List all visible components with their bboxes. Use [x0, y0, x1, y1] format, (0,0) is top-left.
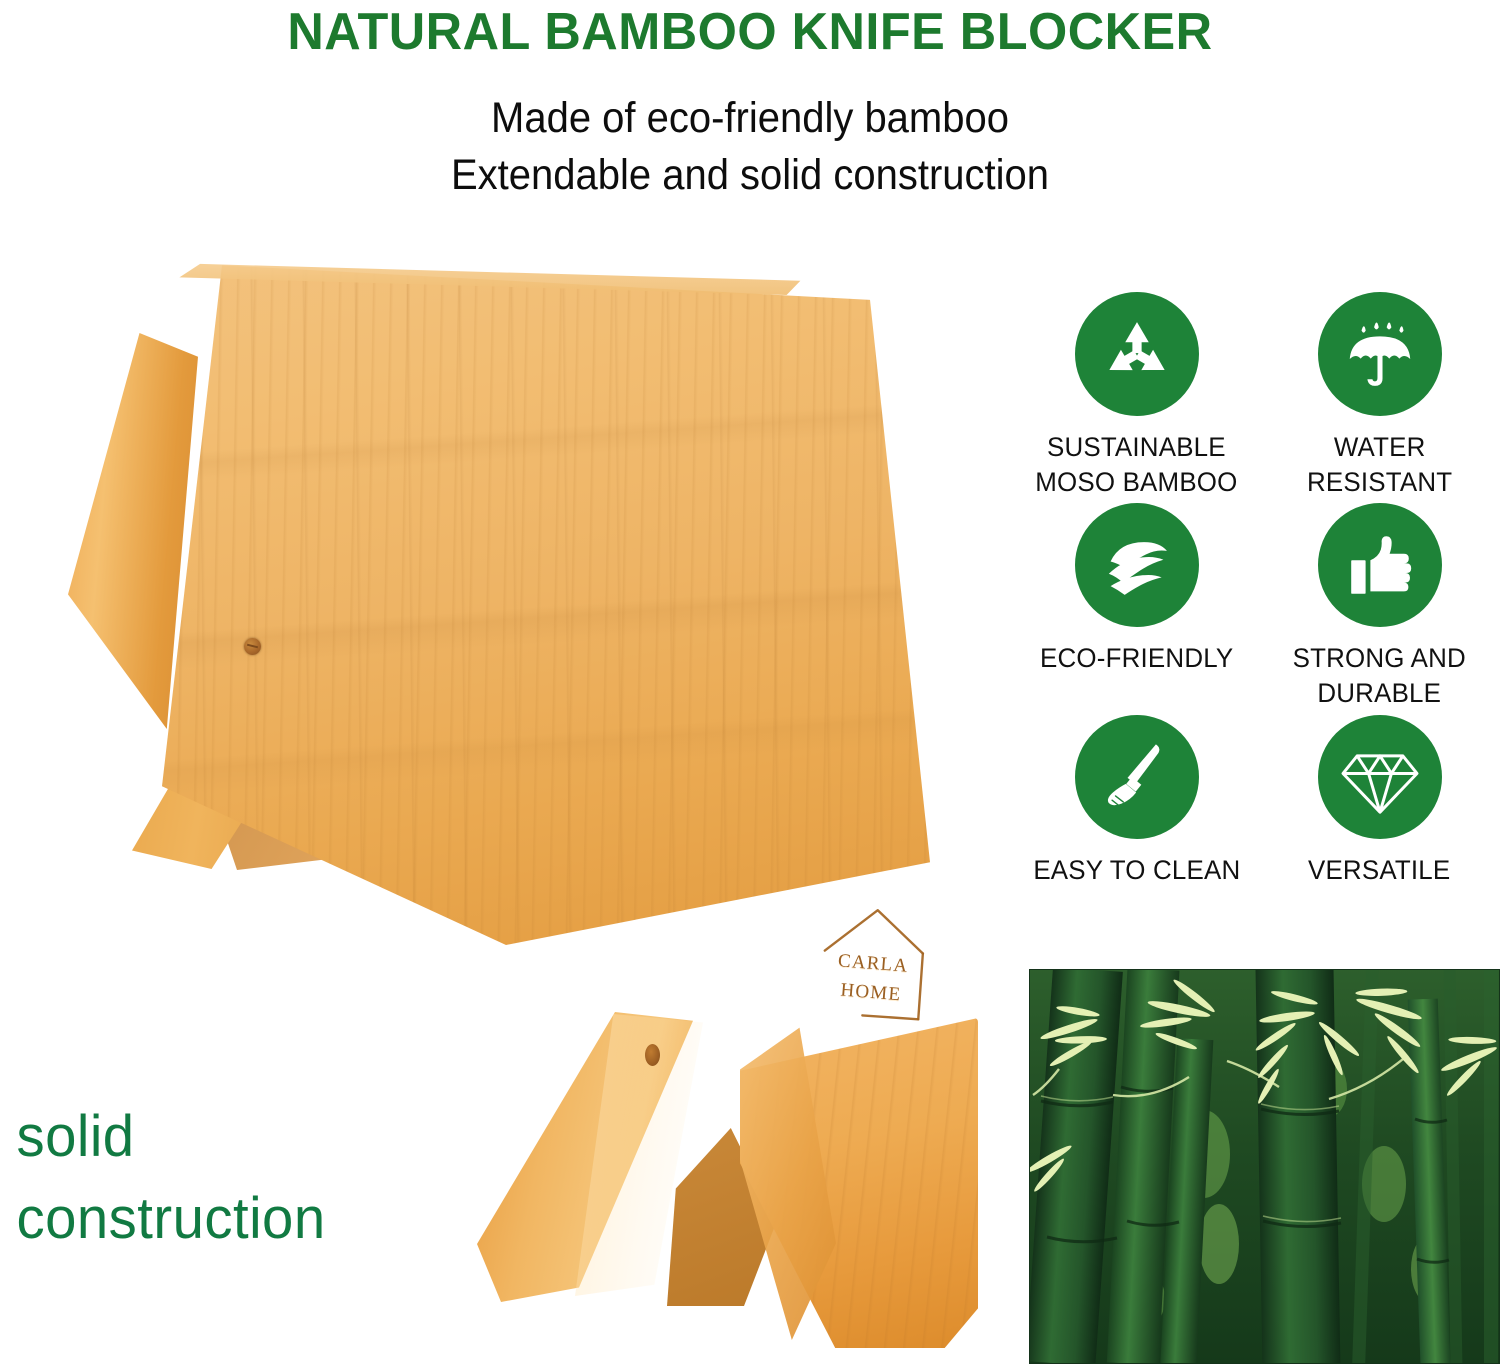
header-banner: NATURAL BAMBOO KNIFE BLOCKER Made of eco… — [0, 0, 1500, 210]
badge-sustainable-moso-bamboo: SUSTAINABLE MOSO BAMBOO — [1022, 292, 1251, 499]
subtitle-line-1: Made of eco-friendly bamboo — [53, 58, 1448, 147]
badge-label: VERSATILE — [1308, 853, 1450, 888]
broom-icon — [1075, 715, 1199, 839]
feature-badge-grid: SUSTAINABLE MOSO BAMBOO WATER RESISTANT — [1022, 292, 1494, 922]
callout-line-2: construction — [16, 1178, 433, 1260]
badge-label: ECO-FRIENDLY — [1040, 641, 1233, 676]
diamond-icon — [1318, 715, 1442, 839]
kickstand-detail-photo — [455, 1000, 975, 1364]
thumbs-up-icon — [1318, 503, 1442, 627]
badge-water-resistant: WATER RESISTANT — [1265, 292, 1494, 499]
badge-label: STRONG AND DURABLE — [1293, 641, 1466, 710]
pivot-screw-icon — [244, 638, 261, 655]
badge-strong-and-durable: STRONG AND DURABLE — [1265, 503, 1494, 710]
badge-label: WATER RESISTANT — [1307, 430, 1452, 499]
hero-product-photo: CARLA HOME — [60, 245, 960, 965]
solid-construction-callout: solid construction — [16, 1096, 433, 1261]
recycle-icon — [1075, 292, 1199, 416]
badge-label: SUSTAINABLE MOSO BAMBOO — [1035, 430, 1237, 499]
detail-screw-icon — [645, 1044, 660, 1066]
page-title: NATURAL BAMBOO KNIFE BLOCKER — [23, 0, 1478, 58]
subtitle-line-2: Extendable and solid construction — [53, 147, 1448, 204]
badge-label: EASY TO CLEAN — [1033, 853, 1240, 888]
badge-versatile: VERSATILE — [1265, 715, 1494, 922]
leaf-icon — [1075, 503, 1199, 627]
bamboo-forest-photo — [1029, 969, 1500, 1364]
callout-line-1: solid — [16, 1096, 433, 1178]
wood-block-illustration: CARLA HOME — [60, 245, 960, 965]
badge-eco-friendly: ECO-FRIENDLY — [1022, 503, 1251, 710]
badge-easy-to-clean: EASY TO CLEAN — [1022, 715, 1251, 922]
umbrella-icon — [1318, 292, 1442, 416]
